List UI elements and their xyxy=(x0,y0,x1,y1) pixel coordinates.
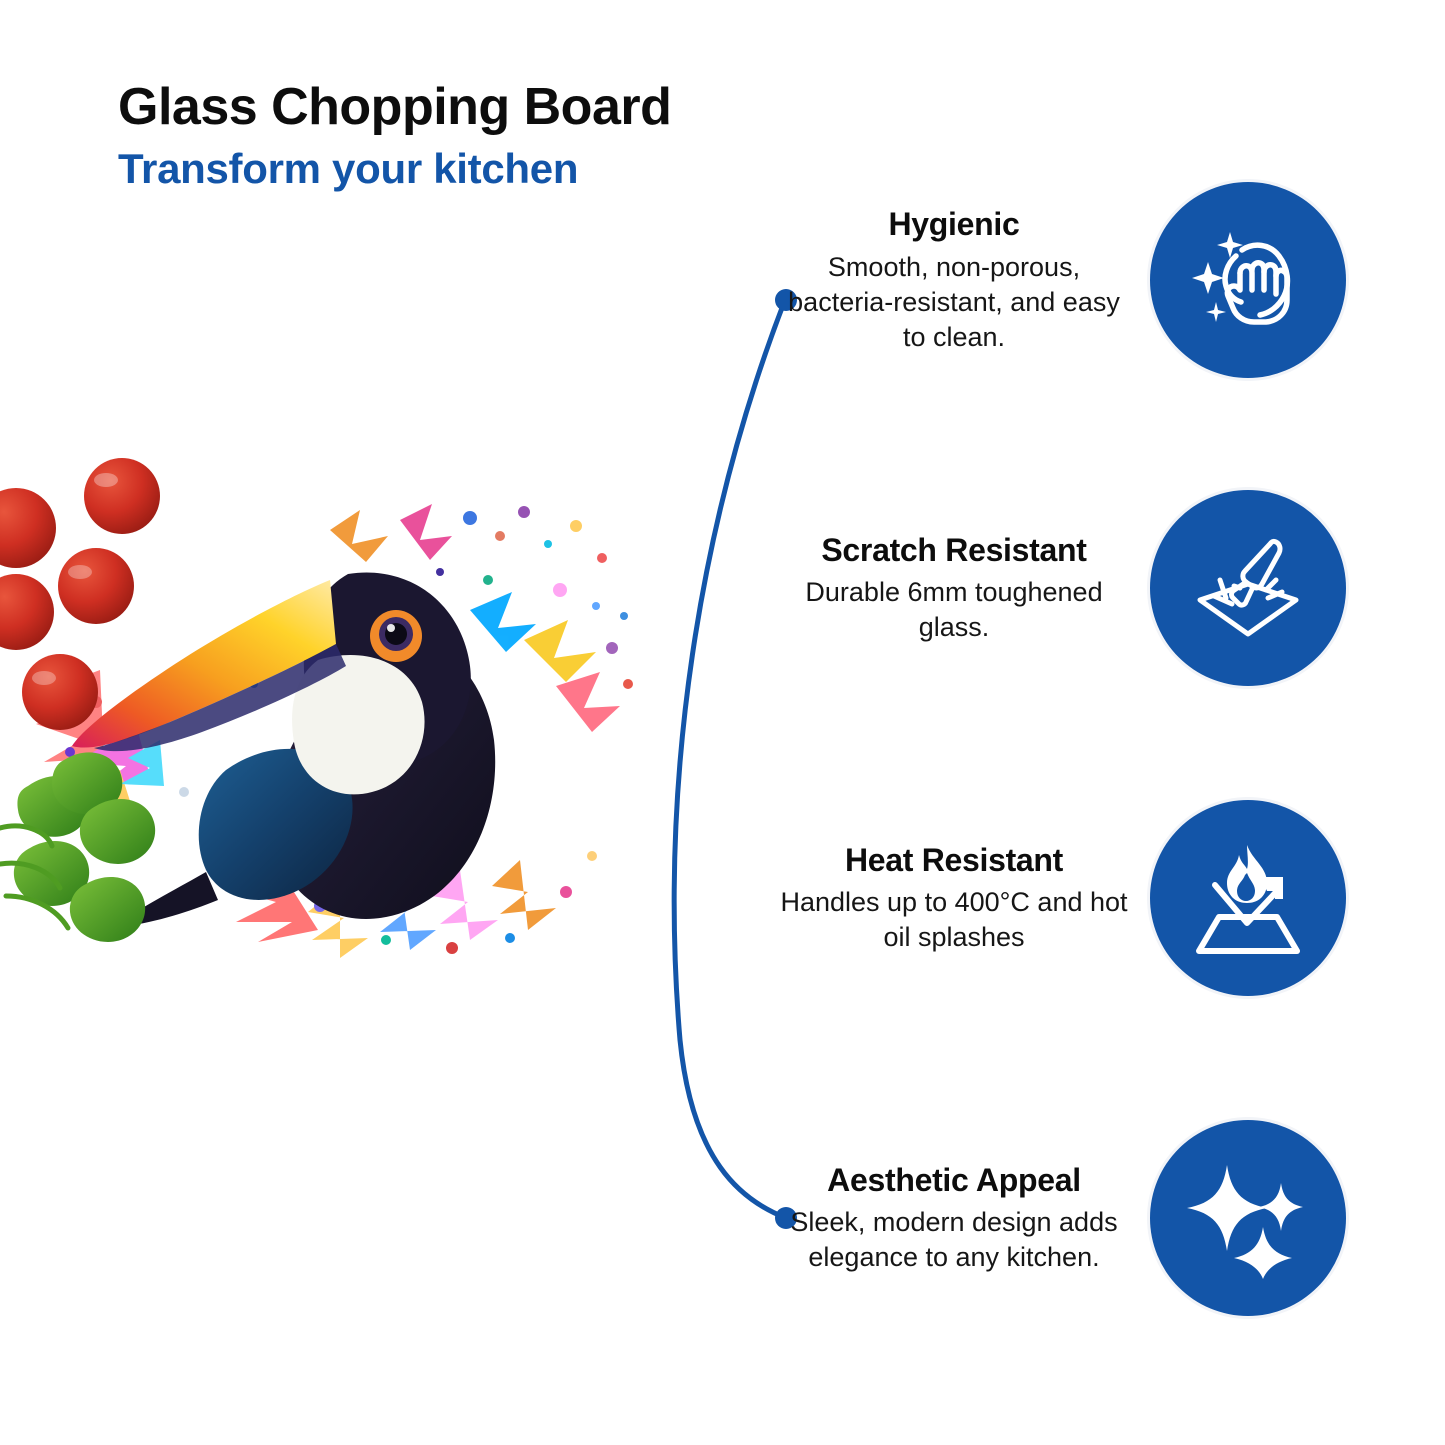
feature-description: Handles up to 400°C and hot oil splashes xyxy=(780,885,1128,955)
product-image xyxy=(0,440,640,980)
feature-text: Scratch Resistant Durable 6mm toughened … xyxy=(780,531,1150,646)
cherry-tomatoes xyxy=(0,458,160,730)
feature-title: Scratch Resistant xyxy=(780,531,1128,569)
feature-hygienic: Hygienic Smooth, non-porous, bacteria-re… xyxy=(780,182,1360,378)
knife-on-surface-impact-icon xyxy=(1150,490,1346,686)
feature-title: Aesthetic Appeal xyxy=(780,1161,1128,1199)
feature-title: Hygienic xyxy=(780,205,1128,243)
page-subtitle: Transform your kitchen xyxy=(118,144,818,194)
toucan-board-illustration xyxy=(0,440,640,980)
feature-description: Durable 6mm toughened glass. xyxy=(780,575,1128,645)
page-title: Glass Chopping Board xyxy=(118,78,818,136)
feature-aesthetic-appeal: Aesthetic Appeal Sleek, modern design ad… xyxy=(780,1120,1360,1316)
feature-text: Aesthetic Appeal Sleek, modern design ad… xyxy=(780,1161,1150,1276)
feature-heat-resistant: Heat Resistant Handles up to 400°C and h… xyxy=(780,800,1360,996)
feature-description: Smooth, non-porous, bacteria-resistant, … xyxy=(780,250,1128,355)
hand-wiping-cloth-sparkle-icon xyxy=(1150,182,1346,378)
curved-connector-line xyxy=(640,280,820,1240)
header-block: Glass Chopping Board Transform your kitc… xyxy=(118,78,818,194)
product-infographic: Glass Chopping Board Transform your kitc… xyxy=(0,0,1445,1445)
feature-description: Sleek, modern design adds elegance to an… xyxy=(780,1205,1128,1275)
feature-scratch-resistant: Scratch Resistant Durable 6mm toughened … xyxy=(780,490,1360,686)
feature-text: Heat Resistant Handles up to 400°C and h… xyxy=(780,841,1150,956)
sparkles-icon xyxy=(1150,1120,1346,1316)
feature-text: Hygienic Smooth, non-porous, bacteria-re… xyxy=(780,205,1150,355)
feature-title: Heat Resistant xyxy=(780,841,1128,879)
flame-deflection-arrow-icon xyxy=(1150,800,1346,996)
